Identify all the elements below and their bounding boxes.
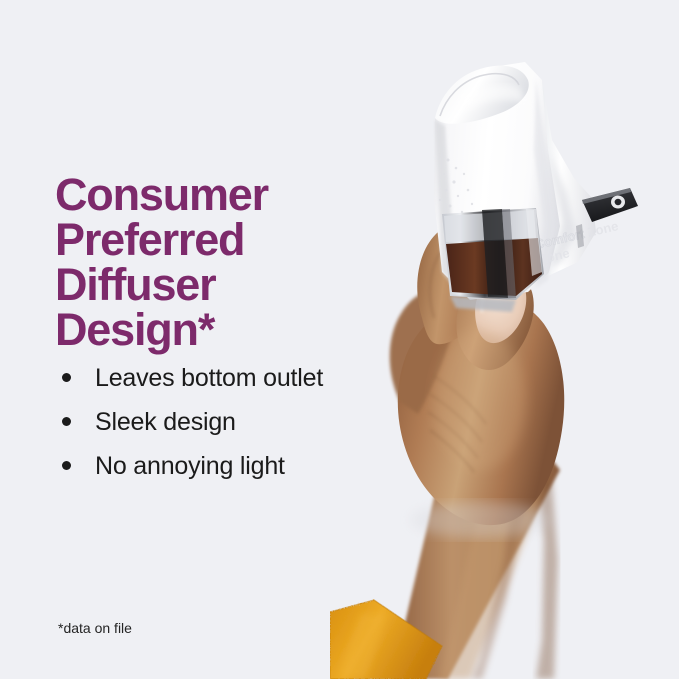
headline-line-1: Consumer [55, 172, 355, 217]
headline-line-2: Preferred [55, 217, 355, 262]
feature-list: Leaves bottom outlet free Sleek design N… [55, 364, 375, 496]
bullet-dot-icon [62, 461, 71, 470]
footnote: *data on file [58, 620, 132, 636]
list-item: Leaves bottom outlet free [55, 364, 375, 392]
promo-image: Consumer Preferred Diffuser Design* Leav… [0, 0, 679, 679]
bullet-dot-icon [62, 373, 71, 382]
page-title: Consumer Preferred Diffuser Design* [55, 172, 355, 352]
bullet-dot-icon [62, 417, 71, 426]
headline-line-3: Diffuser [55, 262, 355, 307]
list-item: No annoying light [55, 452, 375, 480]
list-item: Sleek design [55, 408, 375, 436]
product-photo: Comfort Zone Comfort Zone [330, 0, 679, 679]
headline-line-4: Design* [55, 307, 355, 352]
list-item-label: Sleek design [95, 408, 236, 436]
list-item-label: No annoying light [95, 452, 285, 480]
